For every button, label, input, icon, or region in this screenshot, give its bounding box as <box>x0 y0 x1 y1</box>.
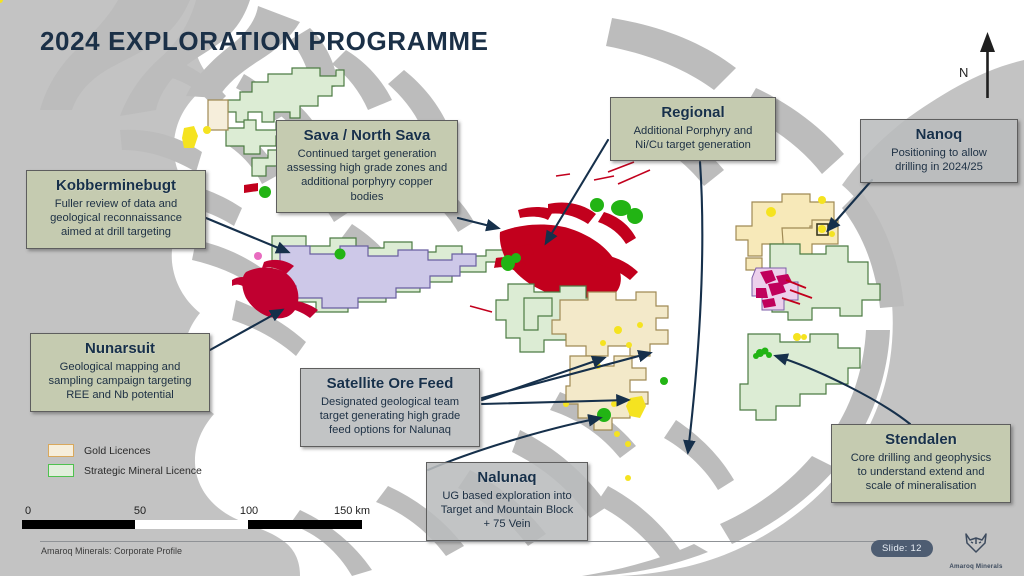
callout-body: UG based exploration into Target and Mou… <box>435 489 579 532</box>
callout-body: Geological mapping and sampling campaign… <box>39 360 201 403</box>
callout-body: Designated geological team target genera… <box>309 395 471 438</box>
fox-logo-icon <box>963 531 989 557</box>
callout-nanoq[interactable]: Nanoq Positioning to allow drilling in 2… <box>860 119 1018 183</box>
callout-line: geological reconnaissance <box>35 211 197 225</box>
map-legend: Gold Licences Strategic Mineral Licence <box>48 444 202 484</box>
callout-title: Stendalen <box>840 431 1002 450</box>
callout-line: Fuller review of data and <box>35 197 197 211</box>
callout-body: Core drilling and geophysics to understa… <box>840 451 1002 494</box>
scalebar-labels: 0 50 100 150 km <box>22 505 362 520</box>
callout-line: Continued target generation <box>285 147 449 161</box>
brand-name: Amaroq Minerals <box>947 563 1005 570</box>
legend-label: Gold Licences <box>84 445 151 457</box>
callout-title: Kobberminebugt <box>35 177 197 196</box>
footer-text: Amaroq Minerals: Corporate Profile <box>41 546 182 556</box>
callout-regional[interactable]: Regional Additional Porphyry and Ni/Cu t… <box>610 97 776 161</box>
callout-body: Continued target generation assessing hi… <box>285 147 449 204</box>
callout-line: additional porphyry copper <box>285 175 449 189</box>
callout-line: Designated geological team <box>309 395 471 409</box>
callout-title: Nalunaq <box>435 469 579 488</box>
callout-line: Target and Mountain Block <box>435 503 579 517</box>
legend-item-gold-licences: Gold Licences <box>48 444 202 457</box>
callout-kobberminebugt[interactable]: Kobberminebugt Fuller review of data and… <box>26 170 206 249</box>
slide-number-badge: Slide: 12 <box>871 540 933 557</box>
callout-title: Nanoq <box>869 126 1009 145</box>
callout-nunarsuit[interactable]: Nunarsuit Geological mapping and samplin… <box>30 333 210 412</box>
callout-sava-north-sava[interactable]: Sava / North Sava Continued target gener… <box>276 120 458 213</box>
scalebar-track <box>22 520 362 529</box>
scalebar-segment <box>135 520 248 529</box>
slide-canvas: 2024 EXPLORATION PROGRAMME N Kobbermineb… <box>0 0 1024 576</box>
footer-divider <box>40 541 927 542</box>
callout-title: Satellite Ore Feed <box>309 375 471 394</box>
callout-line: bodies <box>285 190 449 204</box>
map-scalebar: 0 50 100 150 km <box>22 505 362 529</box>
north-label: N <box>959 65 968 80</box>
callout-line: REE and Nb potential <box>39 388 201 402</box>
callout-line: Ni/Cu target generation <box>619 138 767 152</box>
callout-body: Fuller review of data and geological rec… <box>35 197 197 240</box>
brand-logo: Amaroq Minerals <box>947 531 1005 570</box>
callout-line: target generating high grade <box>309 409 471 423</box>
callout-line: Geological mapping and <box>39 360 201 374</box>
callout-line: assessing high grade zones and <box>285 161 449 175</box>
callout-body: Additional Porphyry and Ni/Cu target gen… <box>619 124 767 153</box>
callout-line: to understand extend and <box>840 465 1002 479</box>
callout-line: feed options for Nalunaq <box>309 423 471 437</box>
callout-line: Positioning to allow <box>869 146 1009 160</box>
callout-line: aimed at drill targeting <box>35 225 197 239</box>
callout-body: Positioning to allow drilling in 2024/25 <box>869 146 1009 175</box>
scalebar-tick: 50 <box>134 505 146 517</box>
callout-line: Additional Porphyry and <box>619 124 767 138</box>
callout-title: Sava / North Sava <box>285 127 449 146</box>
callout-nalunaq[interactable]: Nalunaq UG based exploration into Target… <box>426 462 588 541</box>
callout-title: Nunarsuit <box>39 340 201 359</box>
scalebar-tick: 150 km <box>334 505 370 517</box>
callout-line: scale of mineralisation <box>840 479 1002 493</box>
callout-line: drilling in 2024/25 <box>869 160 1009 174</box>
scalebar-tick: 100 <box>240 505 258 517</box>
callout-satellite-ore-feed[interactable]: Satellite Ore Feed Designated geological… <box>300 368 480 447</box>
page-title: 2024 EXPLORATION PROGRAMME <box>40 26 489 57</box>
scalebar-segment <box>248 520 362 529</box>
scalebar-segment <box>22 520 135 529</box>
callout-stendalen[interactable]: Stendalen Core drilling and geophysics t… <box>831 424 1011 503</box>
callout-line: Core drilling and geophysics <box>840 451 1002 465</box>
legend-item-strategic-mineral-licence: Strategic Mineral Licence <box>48 464 202 477</box>
callout-line: + 75 Vein <box>435 517 579 531</box>
scalebar-tick: 0 <box>25 505 31 517</box>
north-arrow-icon <box>978 32 998 103</box>
callout-line: UG based exploration into <box>435 489 579 503</box>
callout-line: sampling campaign targeting <box>39 374 201 388</box>
legend-label: Strategic Mineral Licence <box>84 465 202 477</box>
callout-title: Regional <box>619 104 767 123</box>
strategic-licence-swatch-icon <box>48 464 74 477</box>
gold-licence-swatch-icon <box>48 444 74 457</box>
